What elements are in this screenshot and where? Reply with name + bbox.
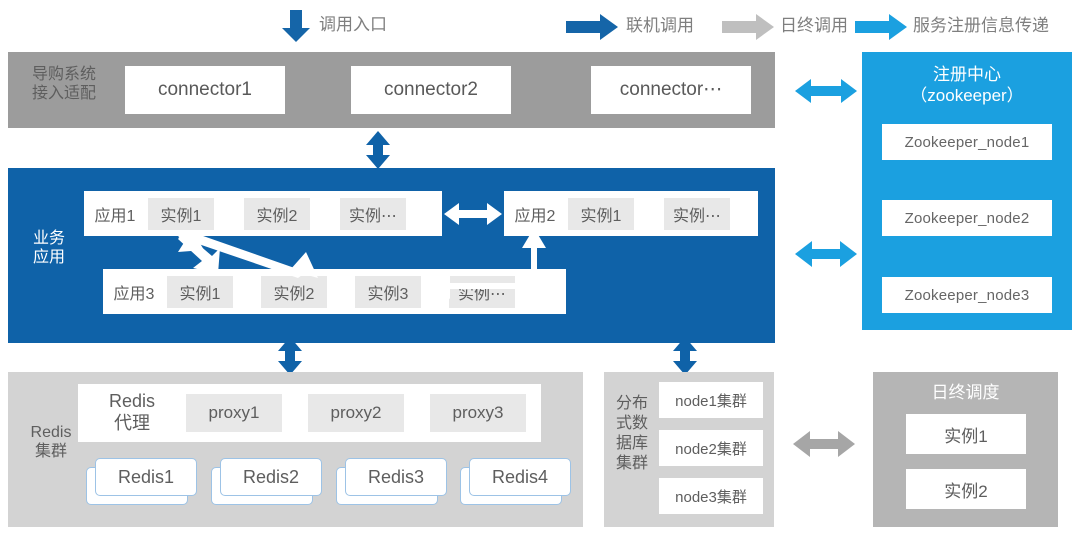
arrow-app1-app2: [444, 201, 502, 227]
registry-title: 注册中心 （zookeeper）: [862, 64, 1072, 107]
connector-box-2[interactable]: connector2: [351, 66, 511, 114]
redis-node-2-card[interactable]: Redis2: [220, 458, 322, 496]
double-arrow-horizontal-icon: [444, 201, 502, 227]
arrow-elbow-icon: [406, 228, 542, 294]
double-arrow-horizontal-icon: [793, 428, 855, 460]
business-apps-label: 业务 应用: [18, 230, 80, 268]
redis-proxy-label: Redis 代理: [86, 391, 178, 434]
registry-panel: 注册中心 （zookeeper） Zookeeper_node1 Zookeep…: [862, 52, 1072, 330]
legend-entry-point: 调用入口: [281, 8, 431, 44]
connector-band: 导购系统 接入适配 connector1 connector2 connecto…: [8, 52, 775, 128]
db-node-2[interactable]: node2集群: [659, 430, 763, 466]
redis-cluster-panel: Redis 集群 Redis 代理 proxy1 proxy2 proxy3 R…: [8, 372, 583, 527]
legend-entry-label: 调用入口: [319, 16, 387, 33]
app-2-instance-2[interactable]: 实例⋯: [664, 198, 730, 230]
redis-proxy-3[interactable]: proxy3: [430, 394, 526, 432]
arrow-connectors-apps: [364, 131, 392, 169]
db-cluster-label: 分布 式数 据库 集群: [608, 394, 656, 474]
double-arrow-horizontal-icon: [795, 76, 857, 106]
arrow-diagonal-icon: [178, 230, 368, 278]
db-node-1[interactable]: node1集群: [659, 382, 763, 418]
app-3-instance-2[interactable]: 实例2: [261, 276, 327, 308]
arrow-db-scheduler: [793, 428, 855, 460]
business-apps-panel: 业务 应用 应用1 实例1 实例2 实例⋯ 应用2 实例1 实例⋯ 应用3 实例…: [8, 168, 775, 343]
redis-proxy-1[interactable]: proxy1: [186, 394, 282, 432]
zookeeper-node-3[interactable]: Zookeeper_node3: [882, 277, 1052, 313]
arrow-right-icon: [855, 14, 907, 40]
app-row-2[interactable]: 应用2 实例1 实例⋯: [504, 191, 758, 236]
arrow-app1-to-app3: [178, 230, 368, 278]
redis-node-1[interactable]: Redis1: [86, 458, 198, 506]
zookeeper-node-1[interactable]: Zookeeper_node1: [882, 124, 1052, 160]
app-3-name: 应用3: [103, 269, 165, 314]
zookeeper-node-2[interactable]: Zookeeper_node2: [882, 200, 1052, 236]
connector-box-1[interactable]: connector1: [125, 66, 285, 114]
redis-proxy-bar: Redis 代理 proxy1 proxy2 proxy3: [78, 384, 541, 442]
arrow-right-icon: [722, 14, 774, 40]
arrow-connectors-registry: [795, 76, 857, 106]
double-arrow-vertical-icon: [276, 337, 304, 375]
db-node-3[interactable]: node3集群: [659, 478, 763, 514]
db-cluster-panel: 分布 式数 据库 集群 node1集群 node2集群 node3集群: [604, 372, 774, 527]
arrow-apps-registry: [795, 238, 857, 270]
redis-node-1-card[interactable]: Redis1: [95, 458, 197, 496]
legend-online-call-label: 联机调用: [626, 17, 694, 34]
app-1-instance-2[interactable]: 实例2: [244, 198, 310, 230]
app-1-name: 应用1: [84, 191, 146, 236]
redis-cluster-label: Redis 集群: [16, 424, 86, 462]
connector-band-label: 导购系统 接入适配: [14, 66, 114, 104]
scheduler-panel: 日终调度 实例1 实例2: [873, 372, 1058, 527]
arrow-right-icon: [566, 14, 618, 40]
redis-node-4-card[interactable]: Redis4: [469, 458, 571, 496]
scheduler-instance-2[interactable]: 实例2: [906, 469, 1026, 509]
app-1-instance-3[interactable]: 实例⋯: [340, 198, 406, 230]
scheduler-instance-1[interactable]: 实例1: [906, 414, 1026, 454]
architecture-diagram: 调用入口 联机调用 日终调用 服务注册信息传递 导购系统 接入适配 connec…: [0, 0, 1080, 535]
app-2-instance-1[interactable]: 实例1: [568, 198, 634, 230]
arrow-apps-db: [671, 337, 699, 375]
scheduler-title: 日终调度: [873, 382, 1058, 403]
arrow-down-icon: [281, 8, 311, 44]
redis-node-4[interactable]: Redis4: [460, 458, 572, 506]
redis-node-3-card[interactable]: Redis3: [345, 458, 447, 496]
legend-service-registry-label: 服务注册信息传递: [913, 17, 1049, 34]
redis-node-2[interactable]: Redis2: [211, 458, 323, 506]
app-3-instance-1[interactable]: 实例1: [167, 276, 233, 308]
arrow-apps-redis: [276, 337, 304, 375]
redis-node-3[interactable]: Redis3: [336, 458, 448, 506]
arrow-app3-to-app2: [406, 228, 542, 294]
double-arrow-vertical-icon: [671, 337, 699, 375]
connector-box-3[interactable]: connector⋯: [591, 66, 751, 114]
redis-proxy-2[interactable]: proxy2: [308, 394, 404, 432]
legend-eod-call-label: 日终调用: [780, 17, 848, 34]
double-arrow-horizontal-icon: [795, 238, 857, 270]
app-1-instance-1[interactable]: 实例1: [148, 198, 214, 230]
double-arrow-vertical-icon: [364, 131, 392, 169]
